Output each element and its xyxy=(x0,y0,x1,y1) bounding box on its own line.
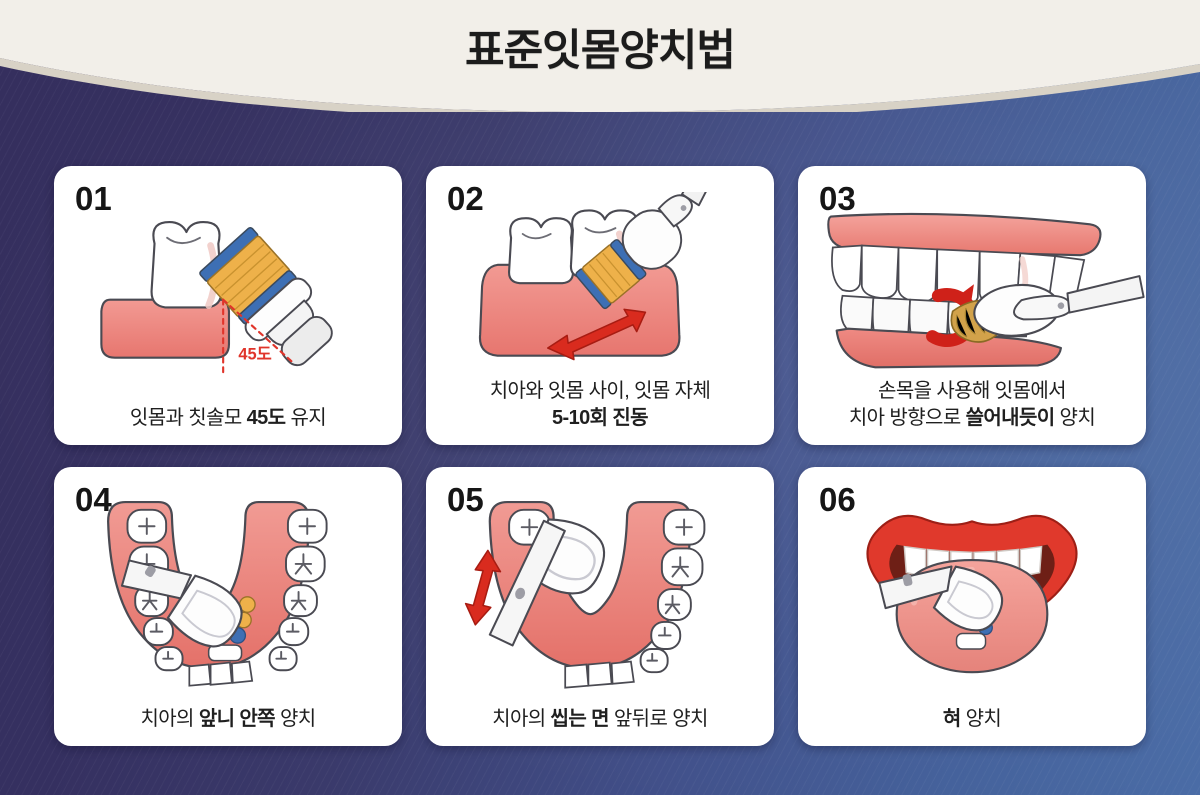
caption-text-line1: 치아와 잇몸 사이, 잇몸 자체 xyxy=(490,380,711,402)
illustration-open-mouth-tongue-brush xyxy=(798,493,1146,689)
step-number-04: 04 xyxy=(75,481,112,519)
step-card-04[interactable]: 04 xyxy=(54,467,402,746)
caption-text-post: 양치 xyxy=(275,708,316,730)
header-band: 표준잇몸양치법 xyxy=(0,0,1200,112)
step-number-02: 02 xyxy=(447,180,484,218)
step-number-03: 03 xyxy=(819,180,856,218)
caption-text-line2: 5-10회 진동 xyxy=(434,405,766,431)
caption-text-line2-post: 양치 xyxy=(1055,407,1096,429)
illustration-tooth-gum-brush-45deg: 45도 xyxy=(54,192,402,388)
caption-text-bold: 씹는 면 xyxy=(551,708,609,730)
illustration-lower-arch-chewing-surface xyxy=(426,493,774,689)
illustration-lower-arch-inner-front xyxy=(54,493,402,689)
step-caption-05: 치아의 씹는 면 앞뒤로 양치 xyxy=(434,706,766,732)
step-number-01: 01 xyxy=(75,180,112,218)
caption-text-pre: 치아의 xyxy=(140,708,198,730)
step-number-06: 06 xyxy=(819,481,856,519)
caption-text-post: 양치 xyxy=(961,708,1002,730)
caption-text-bold: 앞니 안쪽 xyxy=(199,708,275,730)
step-caption-04: 치아의 앞니 안쪽 양치 xyxy=(62,706,394,732)
caption-text-pre: 잇몸과 칫솔모 xyxy=(130,407,247,429)
step-card-05[interactable]: 05 xyxy=(426,467,774,746)
angle-annotation-label: 45도 xyxy=(238,346,271,364)
step-caption-06: 혀 양치 xyxy=(806,706,1138,732)
step-caption-01: 잇몸과 칫솔모 45도 유지 xyxy=(62,405,394,431)
caption-text-line1: 손목을 사용해 잇몸에서 xyxy=(878,380,1066,402)
caption-text-line2-bold: 쓸어내듯이 xyxy=(966,407,1055,429)
step-caption-02: 치아와 잇몸 사이, 잇몸 자체 5-10회 진동 xyxy=(434,378,766,431)
step-caption-03: 손목을 사용해 잇몸에서 치아 방향으로 쓸어내듯이 양치 xyxy=(806,378,1138,431)
caption-text-pre: 치아의 xyxy=(492,708,550,730)
caption-text-bold: 45도 xyxy=(247,407,286,429)
caption-text-post: 앞뒤로 양치 xyxy=(609,708,708,730)
caption-text-line2-pre: 치아 방향으로 xyxy=(849,407,966,429)
step-card-02[interactable]: 02 xyxy=(426,166,774,445)
page-title: 표준잇몸양치법 xyxy=(0,16,1200,78)
caption-text-post: 유지 xyxy=(286,407,327,429)
illustration-tooth-gum-brush-vibrate xyxy=(426,192,774,388)
steps-grid: 01 xyxy=(54,166,1146,746)
step-card-01[interactable]: 01 xyxy=(54,166,402,445)
illustration-side-jaw-roll-brush xyxy=(798,192,1146,388)
step-card-03[interactable]: 03 xyxy=(798,166,1146,445)
step-card-06[interactable]: 06 xyxy=(798,467,1146,746)
step-number-05: 05 xyxy=(447,481,484,519)
caption-text-bold: 혀 xyxy=(943,708,961,730)
front-back-arrow xyxy=(466,550,501,624)
